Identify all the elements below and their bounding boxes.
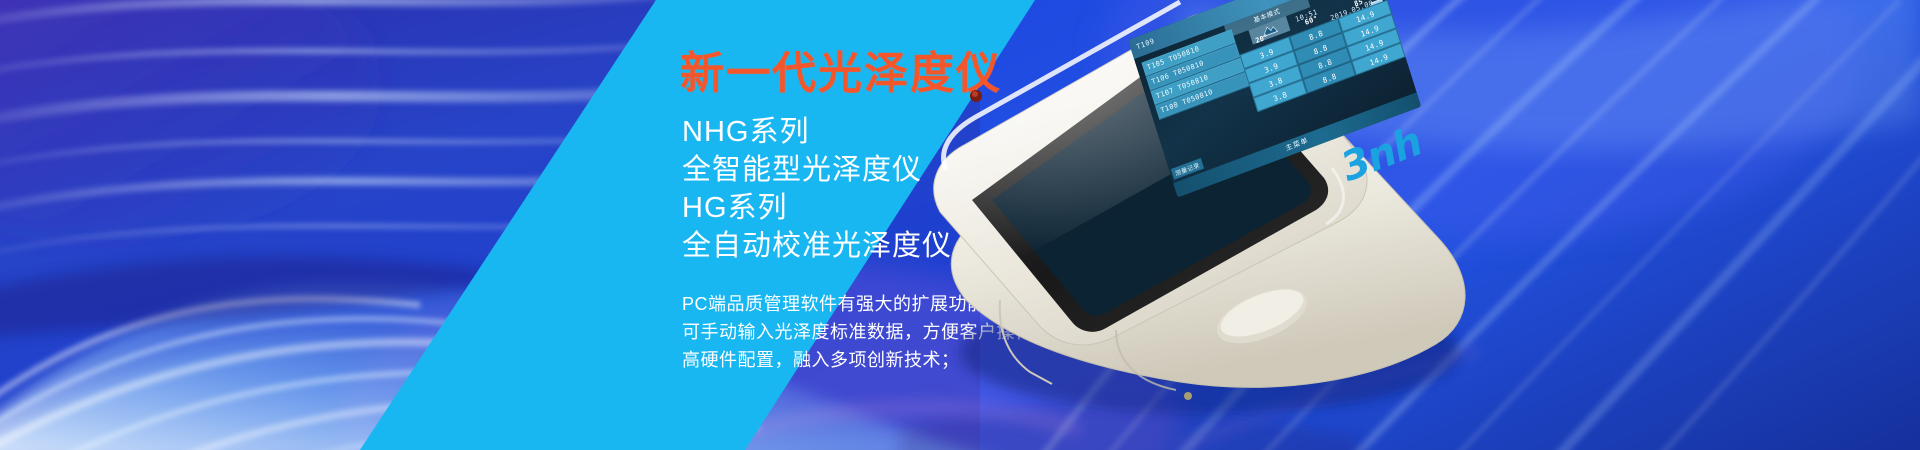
promo-banner: 新一代光泽度仪 NHG系列 全智能型光泽度仪 HG系列 全自动校准光泽度仪 PC… (0, 0, 1920, 450)
screen-title-tag: T109 (1130, 37, 1156, 53)
